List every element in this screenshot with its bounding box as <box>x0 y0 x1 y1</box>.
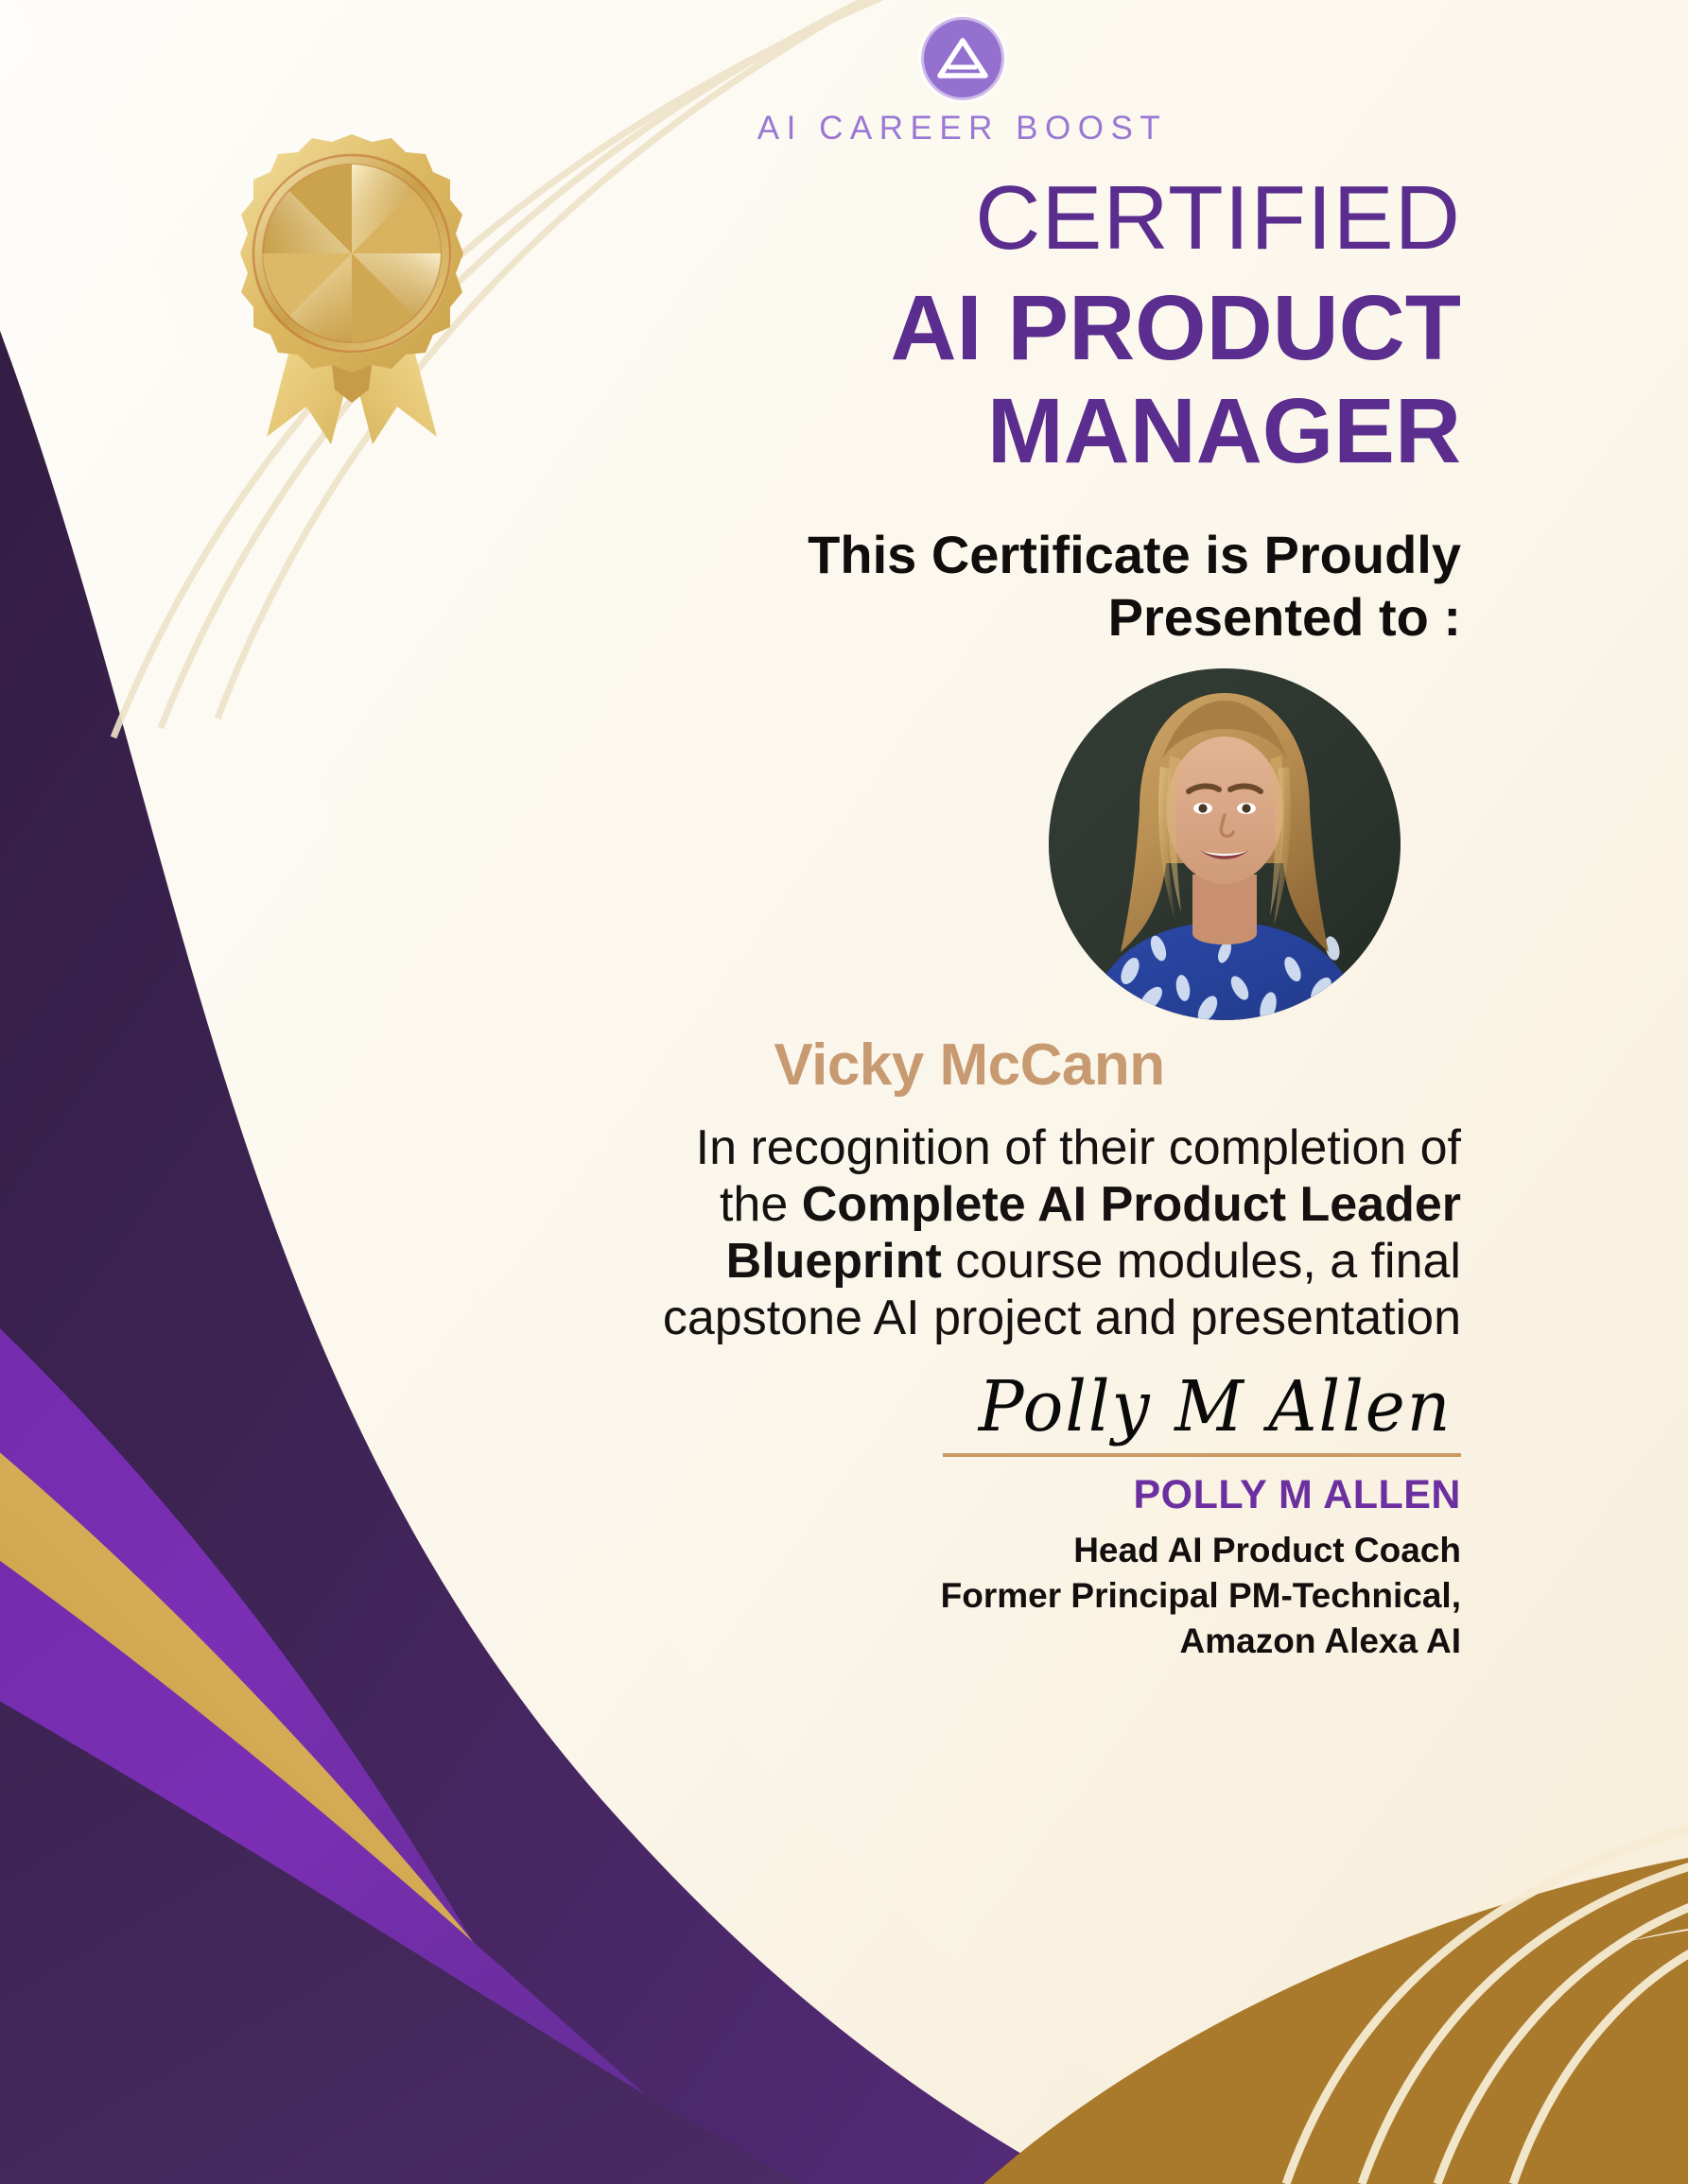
recipient-photo-row <box>515 668 1401 1020</box>
presented-line2: Presented to : <box>515 586 1461 649</box>
recipient-name: Vicky McCann <box>515 1031 1423 1099</box>
citation-line3: course modules, a final <box>942 1234 1461 1289</box>
citation-text: In recognition of their completion of th… <box>515 1119 1461 1347</box>
title-certified: CERTIFIED <box>515 163 1461 273</box>
title-credential: AI PRODUCT MANAGER <box>515 277 1461 482</box>
title-credential-line2: MANAGER <box>515 380 1461 483</box>
presented-line1: This Certificate is Proudly <box>515 524 1461 586</box>
signatory-name: POLLY M ALLEN <box>515 1472 1461 1518</box>
gold-award-ribbon-seal <box>225 132 479 444</box>
title-credential-line1: AI PRODUCT <box>515 277 1461 380</box>
citation-line1: In recognition of their completion of <box>696 1120 1461 1175</box>
signatory-role-line1: Head AI Product Coach <box>515 1528 1461 1573</box>
citation-line2-prefix: the <box>720 1177 802 1232</box>
handwritten-signature: Polly M Allen <box>553 1372 1461 1442</box>
signatory-role-line2: Former Principal PM-Technical, <box>515 1573 1461 1619</box>
course-name-part1: Complete AI Product Leader <box>802 1177 1461 1232</box>
presented-to-heading: This Certificate is Proudly Presented to… <box>515 524 1461 649</box>
portrait-photo <box>1049 668 1401 1020</box>
certificate-page: AI CAREER BOOST CERTIFIED AI PRODUCT MAN… <box>0 0 1688 2184</box>
signature-divider <box>943 1453 1461 1457</box>
course-name-part2: Blueprint <box>726 1234 942 1289</box>
certificate-content: AI CAREER BOOST CERTIFIED AI PRODUCT MAN… <box>515 0 1556 2184</box>
brand-name: AI CAREER BOOST <box>515 110 1409 147</box>
signatory-role-line3: Amazon Alexa AI <box>515 1619 1461 1664</box>
signatory-role: Head AI Product Coach Former Principal P… <box>515 1528 1461 1664</box>
triangle-in-circle-logo-icon <box>921 17 1004 100</box>
signature-block: Polly M Allen POLLY M ALLEN Head AI Prod… <box>515 1372 1461 1664</box>
avatar <box>1049 668 1401 1020</box>
citation-line4: capstone AI project and presentation <box>663 1291 1461 1345</box>
brand-logo <box>515 0 1409 100</box>
